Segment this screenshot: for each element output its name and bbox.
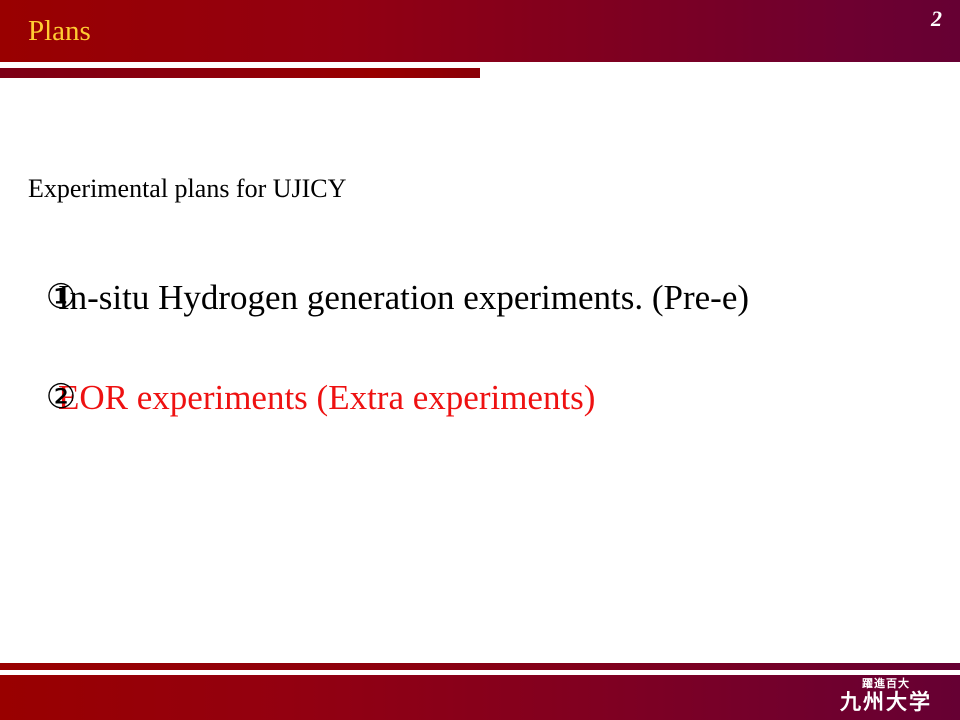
- list-item-label: EOR experiments (Extra experiments): [58, 378, 595, 418]
- university-logo: 躍進百大 九州大学: [826, 677, 946, 714]
- list-item: ① In-situ Hydrogen generation experiment…: [44, 278, 749, 318]
- list-item: ② EOR experiments (Extra experiments): [44, 378, 595, 418]
- slide-content: Experimental plans for UJICY ① In-situ H…: [0, 78, 960, 658]
- university-logo-tagline: 躍進百大: [826, 677, 946, 690]
- university-logo-name: 九州大学: [826, 690, 946, 714]
- content-lead-line: Experimental plans for UJICY: [28, 174, 346, 204]
- slide-page-number: 2: [931, 6, 942, 32]
- slide-header-bar: Plans 2: [0, 0, 960, 62]
- footer-divider-rule: [0, 663, 960, 670]
- slide-footer-bar: 躍進百大 九州大学: [0, 675, 960, 720]
- page-title: Plans: [28, 17, 91, 46]
- list-item-label: In-situ Hydrogen generation experiments.…: [58, 278, 749, 318]
- header-accent-rule: [0, 68, 480, 78]
